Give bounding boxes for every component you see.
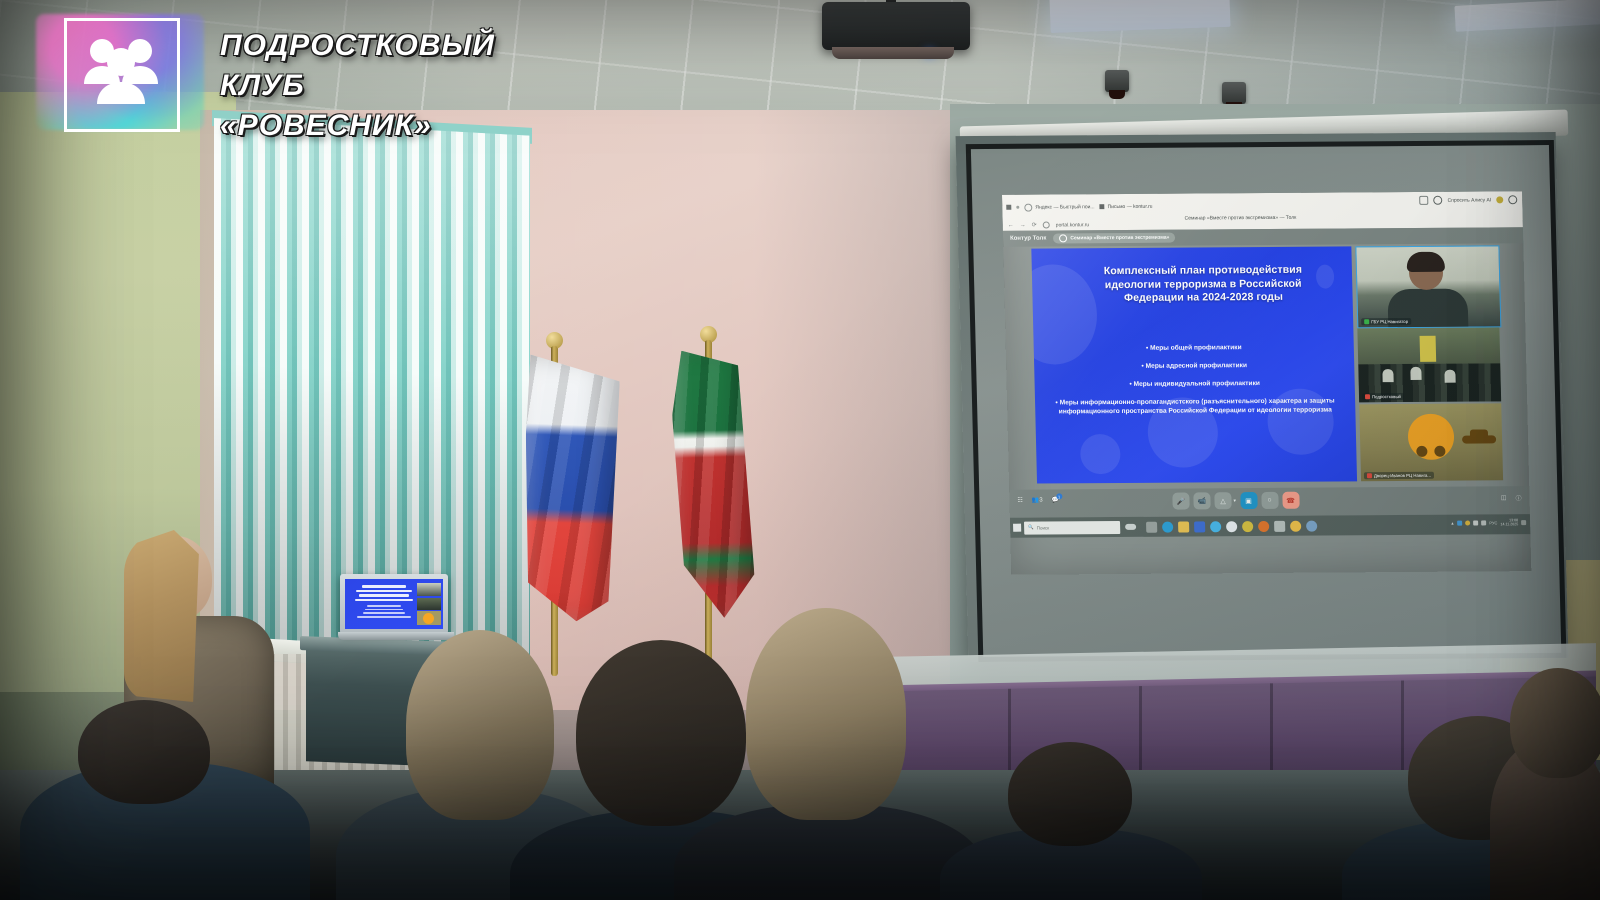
laptop-slide-bullets: [355, 605, 413, 620]
chat-button[interactable]: 💬 1: [1052, 496, 1060, 503]
audience-person: [1382, 369, 1393, 382]
slide-bullet-list: • Меры общей профилактики • Меры адресно…: [1042, 342, 1348, 417]
conference-toolbar: ☷ 👥3 💬 1 🎤 📹 △ ▾ ▣ ○: [1009, 486, 1530, 518]
forward-button[interactable]: →: [1020, 222, 1026, 228]
extensions-icon[interactable]: [1508, 195, 1517, 204]
clock-date: 14.11.2025: [1500, 523, 1518, 527]
word-icon[interactable]: [1274, 520, 1285, 531]
slide-bullet: • Меры информационно-пропагандистского (…: [1043, 396, 1347, 417]
room-name: Семинар «Вместе против экстремизма»: [1070, 235, 1169, 242]
task-view-icon[interactable]: [1146, 521, 1157, 532]
microphone-muted-icon: [1367, 473, 1372, 478]
audience-person: [1500, 560, 1600, 900]
laptop-lid: [340, 574, 448, 634]
windows-taskbar: 🔍 Поиск: [1010, 514, 1531, 538]
watermark-text: ПОДРОСТКОВЫЙ КЛУБ «РОВЕСНИК»: [220, 26, 498, 146]
tab-list-icon[interactable]: [1006, 205, 1011, 210]
tab-label: Яндекс — Быстрый пои...: [1035, 204, 1094, 210]
audience-head: [1008, 742, 1132, 846]
tray-icon[interactable]: [1465, 520, 1470, 525]
alice-icon[interactable]: [1434, 196, 1443, 205]
laptop-participant-tiles: [417, 583, 441, 627]
chevron-up-icon[interactable]: ▲: [1450, 521, 1454, 526]
conference-left-controls: ☷ 👥3 💬 1: [1017, 496, 1059, 503]
participant-tile[interactable]: Подростковый: [1357, 327, 1501, 402]
presentation-slide: Комплексный план противодействия идеолог…: [1031, 246, 1357, 483]
yandex-icon[interactable]: [1290, 520, 1301, 531]
browser-actions[interactable]: Спросить Алису AI: [1420, 195, 1518, 205]
notifications-icon[interactable]: [1521, 520, 1526, 525]
flag-russia-cloth: [519, 354, 620, 622]
reload-button[interactable]: ⟳: [1032, 222, 1037, 229]
audience-head: [1510, 668, 1600, 778]
store-icon[interactable]: [1194, 521, 1205, 532]
chat-badge: 1: [1056, 493, 1062, 499]
avatar: [1407, 414, 1454, 460]
incognito-glasses-icon: [1416, 446, 1427, 457]
flag-russia: [520, 332, 650, 662]
watermark-line2: «РОВЕСНИК»: [220, 106, 498, 146]
help-icon[interactable]: ⓘ: [1515, 493, 1521, 502]
search-placeholder: Поиск: [1037, 525, 1050, 530]
participants-count: 3: [1039, 498, 1042, 504]
slide-bubble: [1080, 434, 1121, 474]
page-title: Семинар «Вместе против экстремизма» — То…: [1185, 215, 1297, 222]
media-icon[interactable]: [1306, 520, 1317, 531]
watermark: ПОДРОСТКОВЫЙ КЛУБ «РОВЕСНИК»: [28, 6, 498, 134]
language-indicator[interactable]: РУС: [1489, 520, 1497, 525]
incognito-hat-icon: [1462, 435, 1496, 443]
browser-chrome: − □ ✕ Яндекс — Быстрый пои...: [1002, 191, 1523, 231]
tray-icon[interactable]: [1473, 520, 1478, 525]
shield-icon[interactable]: [1226, 521, 1237, 532]
participant-name: Подростковый: [1372, 394, 1401, 399]
projector-led: [925, 50, 934, 56]
talk-logo: Контур Толк: [1010, 236, 1046, 242]
audience-person: [1444, 370, 1455, 383]
participants-button[interactable]: 👥3: [1032, 497, 1043, 504]
audience-person: [700, 608, 950, 900]
cortana-icon[interactable]: [1120, 517, 1140, 537]
flag-folds: [671, 349, 756, 619]
explorer-icon[interactable]: [1178, 521, 1189, 532]
hangup-button[interactable]: ☎: [1282, 492, 1299, 509]
flag-folds: [519, 354, 620, 622]
participant-tile[interactable]: ГБУ РЦ Навигатор: [1355, 245, 1501, 328]
assistant-label[interactable]: Спросить Алису AI: [1448, 197, 1492, 203]
laptop-screen: [345, 579, 443, 629]
audience-head: [406, 630, 554, 820]
conference-main-controls: 🎤 📹 △ ▾ ▣ ○ ☎: [1172, 492, 1299, 510]
browser-tab[interactable]: Письмо — kontur.ru: [1099, 203, 1152, 209]
projected-desktop: − □ ✕ Яндекс — Быстрый пои...: [1002, 191, 1531, 575]
site-info-icon[interactable]: [1043, 222, 1050, 229]
taskbar-apps[interactable]: [1146, 520, 1317, 532]
tray-icon[interactable]: [1457, 520, 1462, 525]
slide-bullet: • Меры адресной профилактики: [1042, 360, 1346, 371]
avatar[interactable]: [1496, 196, 1503, 203]
participant-label: ГБУ РЦ Навигатор: [1361, 318, 1411, 325]
slide-bullet: • Меры общей профилактики: [1042, 342, 1346, 353]
ceiling-projector: [822, 2, 970, 50]
talk-header: Контур Толк Семинар «Вместе против экстр…: [1003, 227, 1530, 247]
yandex-icon: [1024, 203, 1032, 211]
network-icon[interactable]: ☷: [1017, 497, 1023, 504]
participant-name: ГБУ РЦ Навигатор: [1371, 319, 1408, 324]
audience-person: [1410, 367, 1421, 380]
tab-spacer: [1016, 206, 1019, 209]
audience-person: [950, 742, 1190, 900]
chrome-icon[interactable]: [1242, 521, 1253, 532]
participant-name: Дворец-Иванов РЦ Навига...: [1374, 473, 1431, 478]
room-pill[interactable]: Семинар «Вместе против экстремизма»: [1053, 233, 1175, 244]
photo-scene: − □ ✕ Яндекс — Быстрый пои...: [0, 0, 1600, 900]
browser-tab[interactable]: Яндекс — Быстрый пои...: [1024, 203, 1094, 211]
record-button[interactable]: ○: [1261, 492, 1278, 509]
start-button[interactable]: [1010, 518, 1024, 538]
screen-surface: − □ ✕ Яндекс — Быстрый пои...: [956, 132, 1569, 662]
audience-head: [78, 700, 210, 804]
microphone-muted-icon: [1365, 394, 1370, 399]
slide-bullet: • Меры индивидуальной профилактики: [1043, 378, 1347, 389]
laptop-slide-title: [353, 585, 415, 603]
projector-screen-in-tile: [1420, 336, 1437, 362]
windows-icon: [1013, 524, 1021, 532]
back-button[interactable]: ←: [1008, 222, 1014, 228]
raise-hand-button[interactable]: ▣: [1240, 492, 1257, 509]
audience-head: [746, 608, 906, 820]
audience-person: [20, 700, 310, 900]
participant-tile[interactable]: Дворец-Иванов РЦ Навига...: [1359, 403, 1503, 481]
track-light: [1105, 70, 1129, 92]
mail-icon: [1100, 204, 1105, 209]
watermark-line1: ПОДРОСТКОВЫЙ КЛУБ: [220, 26, 498, 106]
layout-icon[interactable]: ◫: [1501, 494, 1507, 501]
screen-frame: − □ ✕ Яндекс — Быстрый пои...: [966, 140, 1567, 662]
info-icon: [1059, 234, 1067, 242]
notification-icon[interactable]: [1420, 196, 1429, 205]
browser-icon[interactable]: [1210, 521, 1221, 532]
volume-icon[interactable]: [1481, 520, 1486, 525]
participant-tiles: ГБУ РЦ Навигатор Подростковый: [1355, 245, 1503, 481]
camera-button[interactable]: 📹: [1193, 492, 1210, 509]
participant-label: Подростковый: [1362, 393, 1404, 400]
taskbar-clock[interactable]: 13:08 14.11.2025: [1500, 518, 1518, 527]
conference-right-controls: ◫ ⓘ: [1501, 493, 1522, 502]
search-icon: 🔍: [1028, 525, 1034, 531]
search-input[interactable]: 🔍 Поиск: [1024, 520, 1120, 534]
system-tray[interactable]: ▲ РУС 13:08 14.11.2025: [1450, 518, 1526, 527]
participant-label: Дворец-Иванов РЦ Навига...: [1364, 472, 1434, 479]
address-bar[interactable]: portal.kontur.ru: [1056, 222, 1090, 228]
vlc-icon[interactable]: [1258, 520, 1269, 531]
tab-label: Письмо — kontur.ru: [1107, 203, 1152, 209]
chevron-down-icon[interactable]: ▾: [1233, 498, 1236, 504]
participant-hair: [1407, 252, 1445, 272]
incognito-glasses-icon: [1434, 446, 1445, 457]
track-light: [1222, 82, 1246, 104]
slide-title: Комплексный план противодействия идеолог…: [1078, 264, 1329, 306]
edge-icon[interactable]: [1162, 521, 1173, 532]
group-people-icon: [80, 34, 162, 106]
screen-share-button[interactable]: △: [1214, 492, 1231, 509]
flag-tatarstan-cloth: [671, 349, 756, 619]
microphone-icon: [1364, 319, 1369, 324]
microphone-button[interactable]: 🎤: [1172, 492, 1189, 509]
projection-screen: − □ ✕ Яндекс — Быстрый пои...: [960, 118, 1580, 678]
